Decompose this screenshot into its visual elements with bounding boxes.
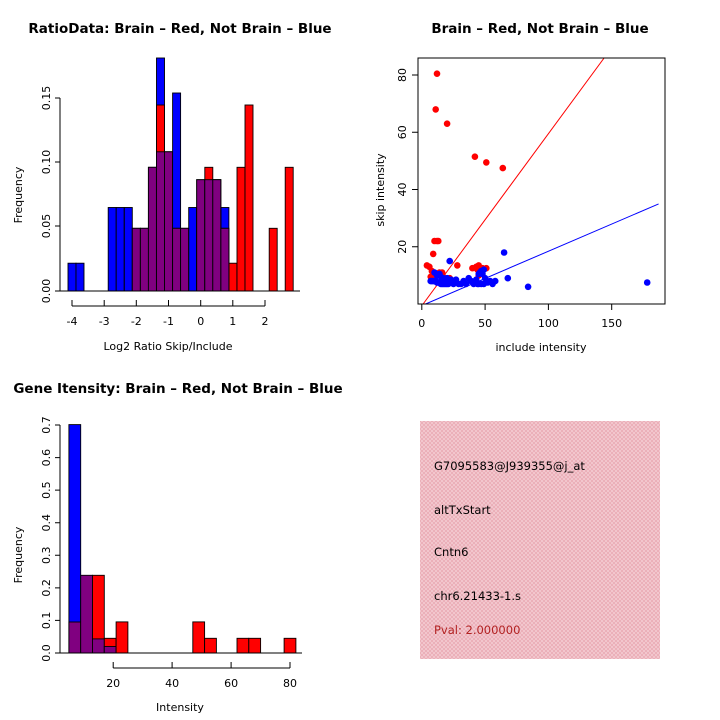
ratio-xtick--2: -2 [131, 315, 142, 328]
event-type-text: altTxStart [434, 503, 491, 517]
ratio-histogram-svg: RatioData: Brain – Red, Not Brain – Blue… [0, 0, 360, 360]
gene-ytick-3: 0.3 [40, 547, 53, 565]
scatter-plot-area [423, 58, 658, 304]
scatter-x-ticks [422, 304, 612, 310]
gene-xtick-60: 60 [224, 677, 238, 690]
gene-x-axis-label: Intensity [156, 701, 204, 714]
ratio-ytick-0: 0.00 [40, 279, 53, 304]
gene-info-box: G7095583@J939355@j_at altTxStart Cntn6 c… [420, 421, 660, 659]
probe-id-text: G7095583@J939355@j_at [434, 459, 585, 473]
ratio-ytick-1: 0.05 [40, 214, 53, 239]
gene-intensity-svg: Gene Itensity: Brain – Red, Not Brain – … [0, 360, 360, 720]
ratio-y-ticks [55, 98, 60, 291]
ratio-bars [68, 58, 293, 291]
ratio-xtick--3: -3 [99, 315, 110, 328]
ratio-ytick-2: 0.10 [40, 150, 53, 175]
gene-symbol-text: Cntn6 [434, 545, 468, 559]
ratio-x-ticks [72, 300, 265, 306]
intensity-scatter-svg: Brain – Red, Not Brain – Blue [360, 0, 720, 360]
ratio-y-axis-label: Frequency [12, 166, 25, 223]
ratio-xtick-1: 1 [229, 315, 236, 328]
ratio-xtick-0: 0 [197, 315, 204, 328]
ratio-x-axis-label: Log2 Ratio Skip/Include [103, 340, 232, 353]
gene-ytick-5: 0.5 [40, 481, 53, 499]
gene-x-ticks [113, 662, 290, 668]
scatter-xtick-100: 100 [538, 317, 559, 330]
scatter-ytick-40: 40 [396, 183, 409, 197]
gene-panel-title: Gene Itensity: Brain – Red, Not Brain – … [13, 381, 342, 397]
scatter-ytick-20: 20 [396, 240, 409, 254]
gene-bars [69, 425, 296, 653]
ratio-ytick-3: 0.15 [40, 86, 53, 111]
brain-fit-line [423, 58, 604, 304]
scatter-ytick-80: 80 [396, 68, 409, 82]
scatter-y-ticks [412, 75, 418, 247]
gene-ytick-4: 0.4 [40, 514, 53, 532]
gene-intensity-panel: Gene Itensity: Brain – Red, Not Brain – … [0, 360, 360, 720]
scatter-y-axis-label: skip intensity [374, 153, 387, 227]
coordinate-text: chr6.21433-1.s [434, 589, 521, 603]
ratio-xtick--1: -1 [163, 315, 174, 328]
gene-xtick-80: 80 [283, 677, 297, 690]
gene-ytick-2: 0.2 [40, 579, 53, 597]
gene-ytick-1: 0.1 [40, 612, 53, 630]
scatter-xtick-0: 0 [418, 317, 425, 330]
gene-y-axis-label: Frequency [12, 526, 25, 583]
intensity-scatter-panel: Brain – Red, Not Brain – Blue [360, 0, 720, 360]
gene-y-ticks [55, 425, 60, 653]
scatter-xtick-150: 150 [601, 317, 622, 330]
scatter-x-axis-label: include intensity [495, 341, 587, 354]
scatter-ytick-60: 60 [396, 125, 409, 139]
gene-ytick-6: 0.6 [40, 449, 53, 467]
gene-xtick-40: 40 [165, 677, 179, 690]
gene-ytick-0: 0.0 [40, 644, 53, 662]
ratio-histogram-panel: RatioData: Brain – Red, Not Brain – Blue… [0, 0, 360, 360]
gene-ytick-7: 0.7 [40, 416, 53, 434]
scatter-xtick-50: 50 [478, 317, 492, 330]
ratio-panel-title: RatioData: Brain – Red, Not Brain – Blue [28, 21, 331, 37]
ratio-xtick--4: -4 [67, 315, 78, 328]
brain-points [424, 70, 507, 281]
ratio-xtick-2: 2 [262, 315, 269, 328]
pval-text: Pval: 2.000000 [434, 623, 520, 637]
scatter-panel-title: Brain – Red, Not Brain – Blue [431, 21, 648, 37]
gene-info-panel: G7095583@J939355@j_at altTxStart Cntn6 c… [360, 360, 720, 720]
not-brain-fit-line [426, 204, 659, 304]
gene-xtick-20: 20 [106, 677, 120, 690]
